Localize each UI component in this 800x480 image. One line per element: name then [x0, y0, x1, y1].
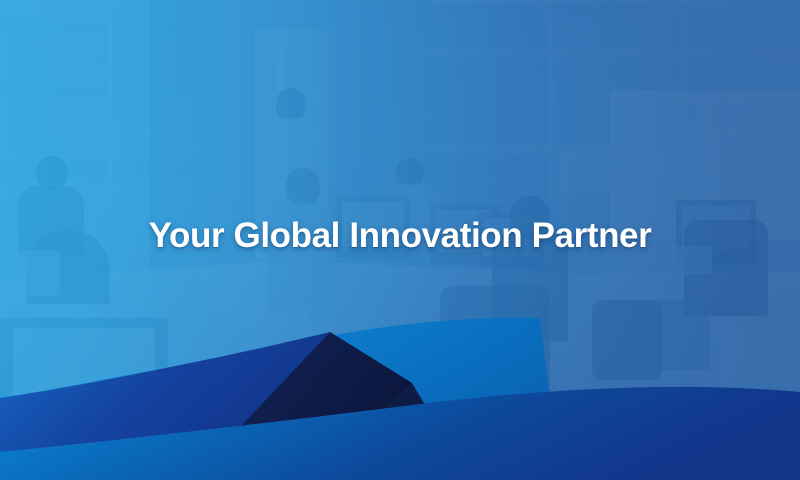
decorative-shapes [0, 0, 800, 480]
hero-banner: Your Global Innovation Partner [0, 0, 800, 480]
